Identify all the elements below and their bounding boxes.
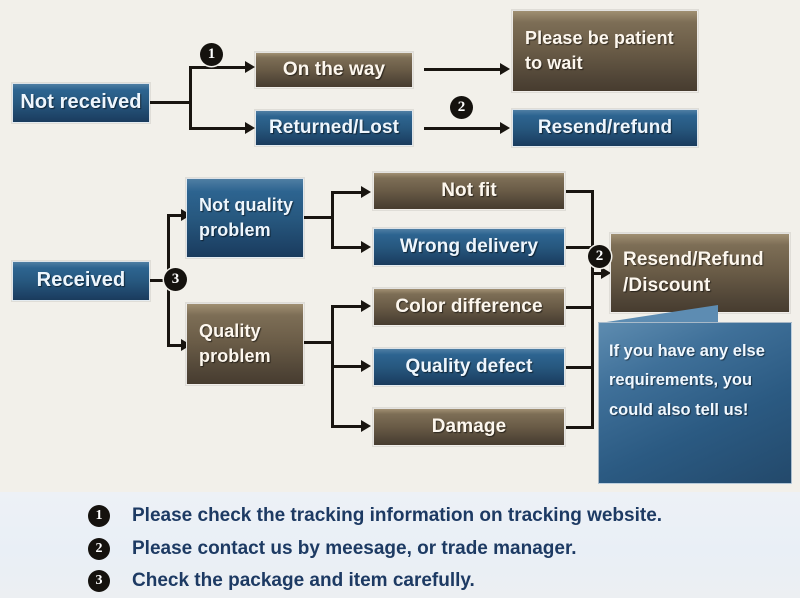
connector-merge-bus xyxy=(591,190,594,428)
arrow-to-not-fit xyxy=(361,186,371,198)
arrow-to-returned-lost xyxy=(245,122,255,134)
arrow-to-resend-refund xyxy=(500,122,510,134)
legend-item-2: 2 Please contact us by meesage, or trade… xyxy=(88,538,577,560)
flowchart-canvas: Not received 1 On the way Returned/Lost … xyxy=(0,0,800,598)
node-received[interactable]: Received xyxy=(12,261,150,301)
legend-badge-2: 2 xyxy=(88,538,110,560)
connector-to-returned-lost xyxy=(189,127,247,130)
legend-text-1: Please check the tracking information on… xyxy=(132,505,662,527)
node-damage[interactable]: Damage xyxy=(373,408,565,446)
legend-badge-1: 1 xyxy=(88,505,110,527)
node-quality-defect[interactable]: Quality defect xyxy=(373,348,565,386)
connector-to-color-difference xyxy=(331,305,363,308)
connector-to-quality-defect xyxy=(331,365,363,368)
connector-quality-stem xyxy=(304,341,334,344)
arrow-to-quality-defect xyxy=(361,360,371,372)
node-color-difference[interactable]: Color difference xyxy=(373,288,565,326)
node-resend-refund[interactable]: Resend/refund xyxy=(512,109,698,147)
node-please-be-patient[interactable]: Please be patient to wait xyxy=(512,10,698,92)
callout-tail xyxy=(600,305,718,323)
connector-not-quality-split xyxy=(331,191,334,247)
connector-damage-merge xyxy=(566,426,594,429)
arrow-to-on-the-way xyxy=(245,61,255,73)
connector-not-fit-merge xyxy=(566,190,594,193)
arrow-to-color-difference xyxy=(361,300,371,312)
arrow-to-patient xyxy=(500,63,510,75)
legend-item-1: 1 Please check the tracking information … xyxy=(88,505,662,527)
connector-to-damage xyxy=(331,425,363,428)
node-returned-lost[interactable]: Returned/Lost xyxy=(255,110,413,146)
badge-one-top: 1 xyxy=(200,43,223,66)
connector-not-received-stem xyxy=(150,101,192,104)
connector-on-the-way-to-patient xyxy=(424,68,502,71)
node-resend-refund-discount[interactable]: Resend/Refund /Discount xyxy=(610,233,790,313)
legend-badge-3: 3 xyxy=(88,570,110,592)
connector-color-difference-merge xyxy=(566,306,594,309)
connector-not-received-split xyxy=(189,66,192,130)
legend-text-2: Please contact us by meesage, or trade m… xyxy=(132,538,577,560)
legend-text-3: Check the package and item carefully. xyxy=(132,570,475,592)
node-not-fit[interactable]: Not fit xyxy=(373,172,565,210)
callout-text: If you have any else requirements, you c… xyxy=(609,337,783,425)
connector-to-wrong-delivery xyxy=(331,246,363,249)
legend-panel: 1 Please check the tracking information … xyxy=(0,492,800,598)
connector-not-quality-stem xyxy=(304,216,334,219)
node-wrong-delivery[interactable]: Wrong delivery xyxy=(373,228,565,266)
node-quality-problem[interactable]: Quality problem xyxy=(186,303,304,385)
badge-three-received: 3 xyxy=(164,268,187,291)
node-not-received[interactable]: Not received xyxy=(12,83,150,123)
badge-two-top: 2 xyxy=(450,96,473,119)
node-on-the-way[interactable]: On the way xyxy=(255,52,413,88)
node-not-quality-problem[interactable]: Not quality problem xyxy=(186,178,304,258)
connector-to-not-fit xyxy=(331,191,363,194)
connector-to-on-the-way xyxy=(189,66,247,69)
legend-item-3: 3 Check the package and item carefully. xyxy=(88,570,475,592)
badge-two-merge: 2 xyxy=(588,245,611,268)
connector-returned-to-resend xyxy=(424,127,502,130)
callout-balloon: If you have any else requirements, you c… xyxy=(598,322,792,484)
connector-quality-defect-merge xyxy=(566,366,594,369)
arrow-to-wrong-delivery xyxy=(361,241,371,253)
arrow-to-damage xyxy=(361,420,371,432)
